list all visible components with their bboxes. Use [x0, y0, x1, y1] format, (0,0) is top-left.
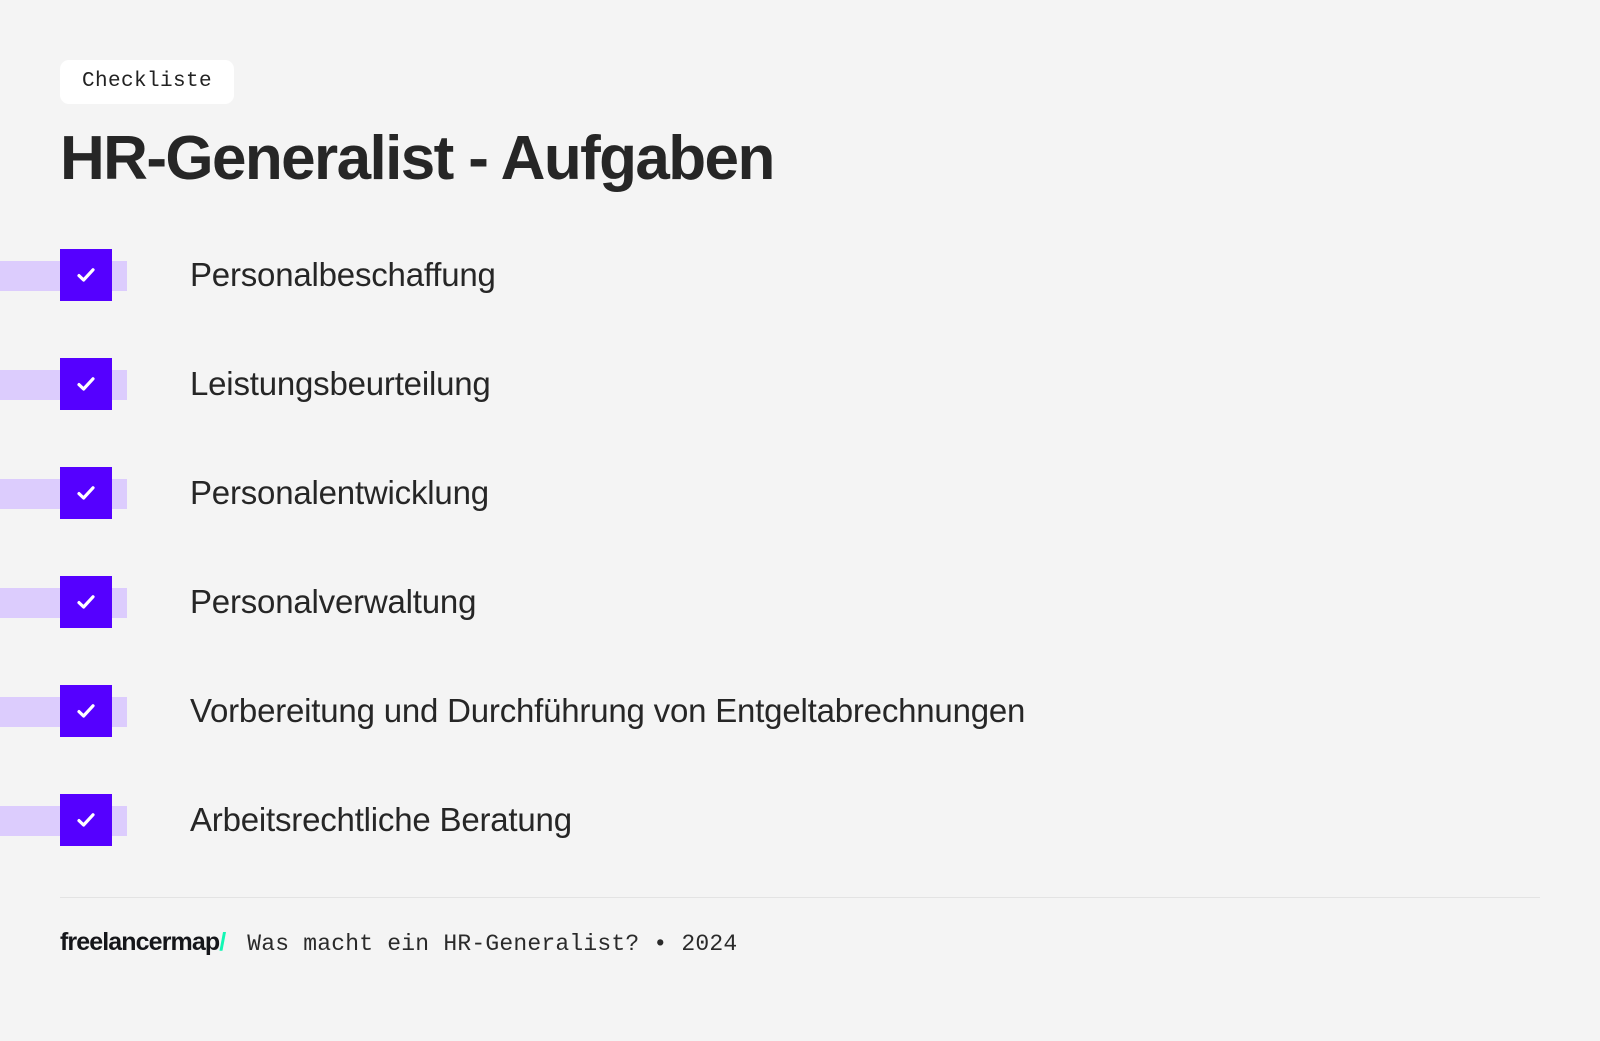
checklist-item-label: Personalentwicklung [190, 467, 489, 519]
logo-wordmark: freelancermap [60, 928, 219, 956]
page-title: HR-Generalist - Aufgaben [60, 126, 1540, 193]
check-icon [74, 372, 98, 396]
category-badge: Checkliste [60, 60, 234, 104]
checklist: Personalbeschaffung Leistungsbeurteilung [0, 249, 1600, 903]
checklist-item[interactable]: Vorbereitung und Durchführung von Entgel… [0, 685, 1600, 794]
checklist-item-label: Arbeitsrechtliche Beratung [190, 794, 572, 846]
checklist-item[interactable]: Arbeitsrechtliche Beratung [0, 794, 1600, 903]
checklist-item[interactable]: Leistungsbeurteilung [0, 358, 1600, 467]
footer-source-text: Was macht ein HR-Generalist? • 2024 [247, 933, 737, 956]
checklist-item-label: Leistungsbeurteilung [190, 358, 491, 410]
checkbox-checked[interactable] [60, 358, 112, 410]
check-icon [74, 263, 98, 287]
checklist-item-label: Vorbereitung und Durchführung von Entgel… [190, 685, 1025, 737]
checkbox-checked[interactable] [60, 794, 112, 846]
footer: freelancermap/ Was macht ein HR-Generali… [60, 930, 737, 956]
checkbox-checked[interactable] [60, 576, 112, 628]
checklist-item-label: Personalverwaltung [190, 576, 476, 628]
check-icon [74, 808, 98, 832]
checklist-item[interactable]: Personalverwaltung [0, 576, 1600, 685]
checklist-item[interactable]: Personalbeschaffung [0, 249, 1600, 358]
checkbox-checked[interactable] [60, 685, 112, 737]
freelancermap-logo[interactable]: freelancermap/ [60, 930, 225, 955]
checklist-item[interactable]: Personalentwicklung [0, 467, 1600, 576]
checkbox-checked[interactable] [60, 249, 112, 301]
checklist-item-label: Personalbeschaffung [190, 249, 496, 301]
footer-divider [60, 897, 1540, 898]
checkbox-checked[interactable] [60, 467, 112, 519]
check-icon [74, 590, 98, 614]
checklist-infographic: Checkliste HR-Generalist - Aufgaben Pers… [0, 0, 1600, 1041]
check-icon [74, 699, 98, 723]
logo-slash-icon: / [219, 928, 225, 956]
check-icon [74, 481, 98, 505]
header: Checkliste HR-Generalist - Aufgaben [60, 60, 1540, 193]
